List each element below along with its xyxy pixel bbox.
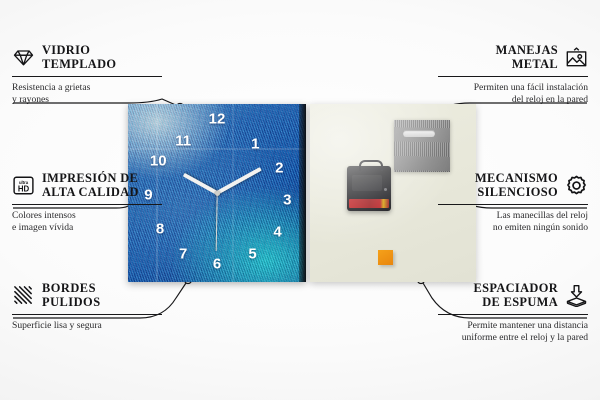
- feature-divider: [438, 314, 588, 315]
- feature-divider: [438, 76, 588, 77]
- mechanism-hook: [359, 160, 383, 171]
- mechanism-screw: [384, 188, 387, 191]
- feature-title: Manejas metal: [496, 44, 558, 71]
- metal-hanger-plate: [394, 120, 450, 172]
- svg-text:HD: HD: [18, 185, 30, 194]
- feature-title: Espaciador de espuma: [473, 282, 558, 309]
- product-image: 12 1 2 3 4 5 6 7 8 9 10 11: [128, 104, 476, 282]
- mechanism-body-panel: [352, 175, 382, 191]
- feature-subtitle: Las manecillas del reloj no emiten ningú…: [438, 210, 588, 233]
- feature-title: Bordes pulidos: [42, 282, 101, 309]
- feature-head: Mecanismo silencioso: [438, 172, 588, 199]
- picture-hanger-icon: [565, 46, 588, 69]
- feature-callout-manejas-metal: Manejas metal Permiten una fácil instala…: [438, 44, 588, 106]
- feature-title: Impresión de alta calidad: [42, 172, 139, 199]
- clock-numeral-7: 7: [179, 246, 187, 261]
- feature-head: Bordes pulidos: [12, 282, 162, 309]
- diamond-icon: [12, 46, 35, 69]
- clock-numeral-4: 4: [273, 225, 281, 240]
- feature-divider: [438, 204, 588, 205]
- polished-edges-icon: [12, 284, 35, 307]
- feature-callout-bordes-pulidos: Bordes pulidos Superficie lisa y segura: [12, 282, 162, 332]
- foam-spacer: [378, 250, 393, 265]
- feature-divider: [12, 314, 162, 315]
- hanger-slot: [403, 130, 435, 137]
- feature-callout-mecanismo-silencioso: Mecanismo silencioso Las manecillas del …: [438, 172, 588, 234]
- feature-head: Vidrio templado: [12, 44, 162, 71]
- clock-numeral-6: 6: [213, 257, 221, 272]
- feature-head: ultra HD Impresión de alta calidad: [12, 172, 162, 199]
- feature-title: Vidrio templado: [42, 44, 116, 71]
- clock-mechanism: [347, 166, 391, 211]
- clock-numeral-12: 12: [209, 112, 226, 127]
- clock-numeral-2: 2: [275, 161, 283, 176]
- clock-numeral-1: 1: [251, 137, 259, 152]
- feature-subtitle: Resistencia a grietas y rayones: [12, 82, 162, 105]
- ultra-hd-icon: ultra HD: [12, 174, 35, 197]
- clock-numeral-5: 5: [248, 247, 256, 262]
- press-down-layers-icon: [565, 284, 588, 307]
- infographic-canvas: 12 1 2 3 4 5 6 7 8 9 10 11: [0, 0, 600, 400]
- feature-subtitle: Permiten una fácil instalación del reloj…: [438, 82, 588, 105]
- feature-callout-espaciador-espuma: Espaciador de espuma Permite mantener un…: [438, 282, 588, 344]
- feature-head: Manejas metal: [438, 44, 588, 71]
- gear-icon: [565, 174, 588, 197]
- clock-center-cap: [215, 191, 220, 196]
- feature-title: Mecanismo silencioso: [475, 172, 558, 199]
- clock-numeral-11: 11: [175, 134, 191, 149]
- feature-callout-impresion-alta-calidad: ultra HD Impresión de alta calidad Color…: [12, 172, 162, 234]
- feature-divider: [12, 204, 162, 205]
- feature-subtitle: Superficie lisa y segura: [12, 320, 162, 332]
- battery-strip: [349, 199, 389, 208]
- feature-callout-vidrio-templado: Vidrio templado Resistencia a grietas y …: [12, 44, 162, 106]
- feature-divider: [12, 76, 162, 77]
- clock-numeral-3: 3: [283, 193, 291, 208]
- clock-numeral-10: 10: [150, 153, 167, 168]
- feature-subtitle: Permite mantener una distancia uniforme …: [438, 320, 588, 343]
- feature-subtitle: Colores intensos e imagen vívida: [12, 210, 162, 233]
- feature-head: Espaciador de espuma: [438, 282, 588, 309]
